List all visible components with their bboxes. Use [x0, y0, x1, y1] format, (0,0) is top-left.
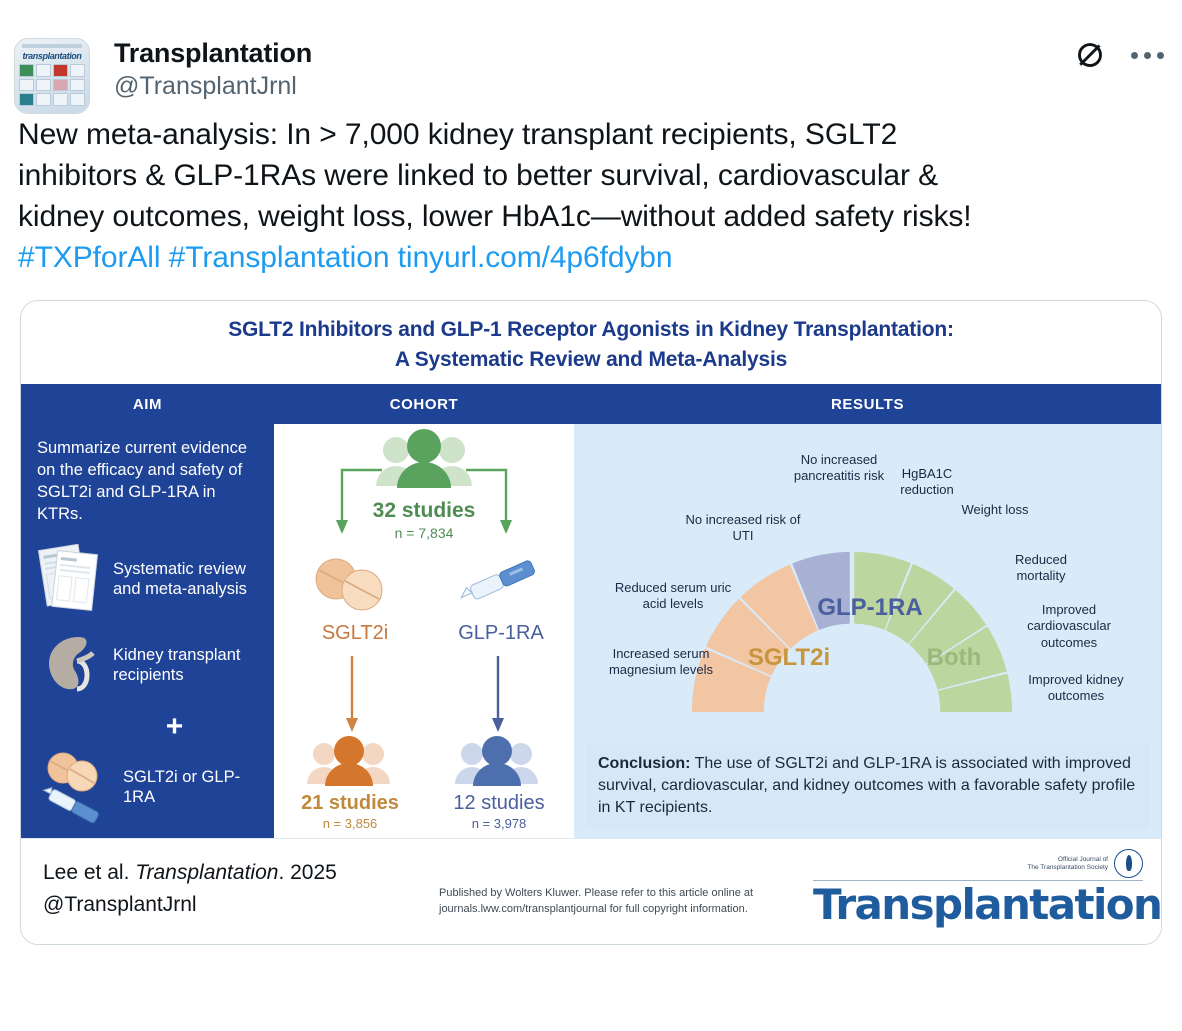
tweet-links-line: #TXPforAll #Transplantation tinyurl.com/… [18, 237, 1164, 278]
pills-and-pen-icon [37, 746, 113, 829]
tweet-container: transplantation Transplantation @Transpl… [0, 0, 1182, 945]
segment-label-pancreatitis: No increased pancreatitis risk [787, 452, 891, 485]
segment-label-kidney: Improved kidney outcomes [1014, 672, 1138, 705]
avatar-cover-title: transplantation [18, 51, 86, 61]
conclusion-box: Conclusion: The use of SGLT2i and GLP-1R… [586, 743, 1149, 828]
hashtag-txpforall[interactable]: #TXPforAll [18, 241, 160, 274]
tweet-header: transplantation Transplantation @Transpl… [0, 0, 1182, 108]
cohort-total-group: 32 studies n = 7,834 [274, 499, 574, 541]
aim-item-drugs: SGLT2i or GLP-1RA [37, 746, 260, 829]
citation-journal: Transplantation [135, 861, 278, 884]
segment-label-hgba1c: HgBA1C reduction [879, 466, 975, 499]
segment-label-magnesium: Increased serum magnesium levels [596, 646, 726, 679]
cohort-left-studies: 21 studies [274, 792, 426, 815]
tweet-text-line-1: New meta-analysis: In > 7,000 kidney tra… [18, 114, 1164, 155]
section-band: AIM COHORT RESULTS [21, 384, 1161, 424]
kidney-icon [37, 627, 103, 704]
account-names: Transplantation @TransplantJrnl [114, 38, 312, 100]
band-label-aim: AIM [21, 396, 274, 413]
cohort-right-drug: GLP-1RA [426, 622, 576, 645]
cohort-total-n: n = 7,834 [274, 525, 574, 541]
donut-center-label-sglt2i: SGLT2i [734, 644, 844, 672]
segment-label-uti: No increased risk of UTI [684, 512, 802, 545]
infographic-columns: Summarize current evidence on the effica… [21, 424, 1161, 838]
publisher-note: Published by Wolters Kluwer. Please refe… [439, 886, 753, 917]
avatar[interactable]: transplantation [14, 38, 90, 114]
infographic-title-line-1: SGLT2 Inhibitors and GLP-1 Receptor Agon… [41, 315, 1141, 344]
band-label-cohort: COHORT [274, 396, 574, 413]
injection-pen-icon [458, 560, 535, 605]
infographic-title-line-2: A Systematic Review and Meta-Analysis [41, 345, 1141, 374]
infographic-card[interactable]: SGLT2 Inhibitors and GLP-1 Receptor Agon… [20, 300, 1162, 945]
tweet-url-link[interactable]: tinyurl.com/4p6fdybn [398, 241, 673, 274]
display-name[interactable]: Transplantation [114, 38, 312, 68]
donut-center-label-glp1ra: GLP-1RA [810, 594, 930, 622]
avatar-cover-grid [19, 64, 84, 105]
account-handle[interactable]: @TransplantJrnl [114, 72, 312, 100]
segment-label-weight-loss: Weight loss [940, 502, 1050, 518]
journal-logo-text: Transplantation® [813, 884, 1143, 926]
aim-item-label: SGLT2i or GLP-1RA [123, 767, 260, 809]
aim-item-systematic-review: Systematic review and meta-analysis [37, 540, 260, 619]
tweet-text-line-2: inhibitors & GLP-1RAs were linked to bet… [18, 155, 1164, 196]
citation-handle: @TransplantJrnl [43, 889, 337, 921]
pills-icon [316, 559, 382, 610]
people-green-icon [376, 429, 472, 488]
logo-tag-line-2: The Transplantation Society [1027, 864, 1108, 872]
more-options-icon[interactable] [1131, 52, 1164, 59]
plus-icon: + [89, 712, 260, 742]
cohort-total-studies: 32 studies [274, 499, 574, 523]
logo-tag-line-1: Official Journal of [1027, 856, 1108, 864]
hashtag-transplantation[interactable]: #Transplantation [169, 241, 390, 274]
aim-lead-text: Summarize current evidence on the effica… [37, 438, 260, 526]
segment-label-cardiovascular: Improved cardiovascular outcomes [1008, 602, 1130, 651]
cohort-right-studies: 12 studies [424, 792, 574, 815]
cohort-left-result: 21 studies n = 3,856 [274, 792, 426, 831]
journal-logo: Official Journal of The Transplantation … [813, 849, 1143, 926]
infographic-title: SGLT2 Inhibitors and GLP-1 Receptor Agon… [21, 301, 1161, 384]
documents-icon [37, 540, 103, 619]
citation-authors: Lee et al. [43, 861, 135, 884]
cohort-right-n: n = 3,978 [424, 816, 574, 831]
publisher-note-line-1: Published by Wolters Kluwer. Please refe… [439, 886, 753, 901]
publisher-note-line-2: journals.lww.com/transplantjournal for f… [439, 902, 753, 917]
results-panel: Increased serum magnesium levels Reduced… [574, 424, 1161, 838]
tweet-text-line-3: kidney outcomes, weight loss, lower HbA1… [18, 196, 1164, 237]
society-seal-icon [1114, 849, 1143, 878]
header-actions [1075, 40, 1164, 70]
cohort-right-result: 12 studies n = 3,978 [424, 792, 574, 831]
citation-year: . 2025 [278, 861, 336, 884]
aim-panel: Summarize current evidence on the effica… [21, 424, 274, 838]
journal-logo-tagline: Official Journal of The Transplantation … [813, 849, 1143, 878]
cohort-panel: 32 studies n = 7,834 SGLT2i GLP-1RA 21 s… [274, 424, 574, 838]
infographic-footer: Lee et al. Transplantation. 2025 @Transp… [21, 838, 1161, 944]
aim-item-label: Kidney transplant recipients [113, 645, 260, 687]
cohort-left-drug: SGLT2i [280, 622, 430, 645]
segment-label-mortality: Reduced mortality [989, 552, 1093, 585]
citation: Lee et al. Transplantation. 2025 @Transp… [43, 857, 337, 920]
aim-item-kidney-recipients: Kidney transplant recipients [37, 627, 260, 704]
grok-icon[interactable] [1075, 40, 1105, 70]
band-label-results: RESULTS [574, 396, 1161, 413]
people-blue-icon [455, 736, 538, 786]
donut-center-label-both: Both [904, 644, 1004, 672]
avatar-cover-banner [22, 44, 81, 48]
people-orange-icon [307, 736, 390, 786]
segment-label-uric-acid: Reduced serum uric acid levels [608, 580, 738, 613]
conclusion-label: Conclusion: [598, 755, 690, 772]
cohort-left-n: n = 3,856 [274, 816, 426, 831]
tweet-text: New meta-analysis: In > 7,000 kidney tra… [0, 108, 1182, 278]
aim-item-label: Systematic review and meta-analysis [113, 559, 260, 601]
